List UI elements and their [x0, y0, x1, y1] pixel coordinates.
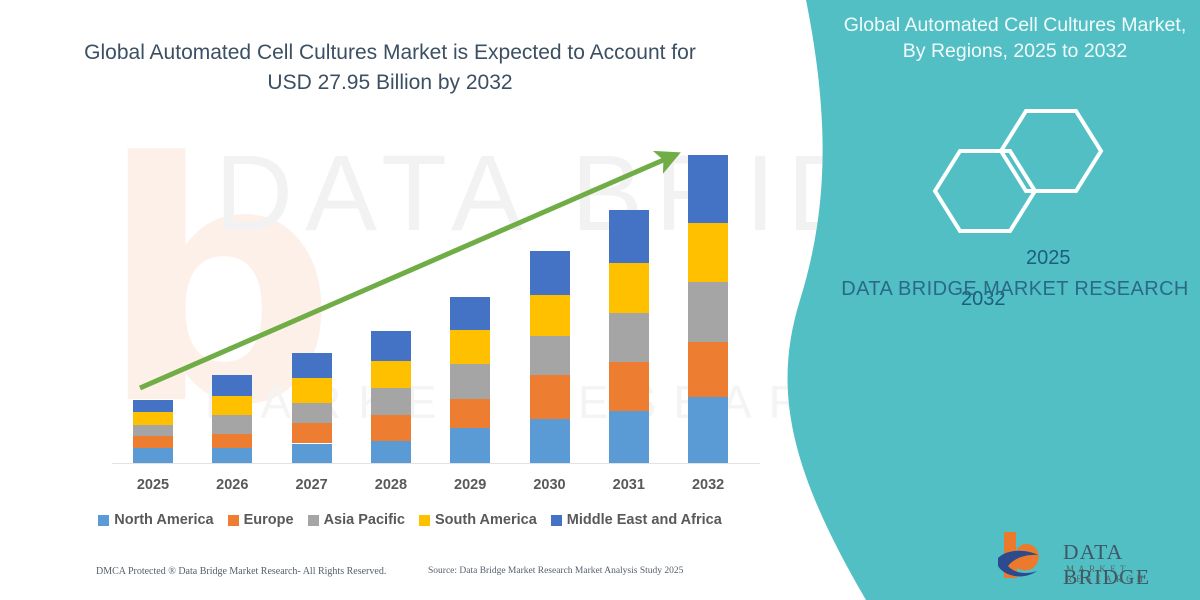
footer-source: Source: Data Bridge Market Research Mark… — [428, 566, 683, 576]
hexagon-badges: 2025 2032 — [830, 105, 1200, 240]
panel-title: Global Automated Cell Cultures Market, B… — [835, 12, 1195, 65]
legend-label: North America — [114, 512, 213, 528]
legend-item[interactable]: North America — [98, 512, 213, 528]
bar-segment — [371, 388, 411, 415]
bar-segment — [530, 336, 570, 375]
bar-segment — [212, 434, 252, 449]
bar-segment — [450, 428, 490, 463]
legend-swatch-icon — [228, 515, 239, 526]
bar-segment — [609, 313, 649, 362]
bar-segment — [530, 375, 570, 419]
bar-segment — [133, 400, 173, 413]
hexagon-2025-label: 2025 — [1026, 247, 1071, 270]
bar-segment — [530, 251, 570, 296]
x-axis-label: 2027 — [275, 477, 349, 493]
bar-segment — [530, 295, 570, 336]
x-axis-label: 2032 — [671, 477, 745, 493]
bar-segment — [371, 415, 411, 440]
legend-swatch-icon — [308, 515, 319, 526]
bar-segment — [292, 444, 332, 463]
bar-segment — [688, 397, 728, 463]
x-axis-label: 2026 — [195, 477, 269, 493]
bar-segment — [688, 155, 728, 223]
bar-segment — [609, 362, 649, 412]
data-bridge-logo: DATA BRIDGE MARKET RESEARCH — [990, 528, 1198, 590]
legend-item[interactable]: South America — [419, 512, 537, 528]
bar-segment — [292, 423, 332, 443]
x-axis-label: 2030 — [513, 477, 587, 493]
logo-sub-text: MARKET RESEARCH — [1066, 564, 1198, 584]
bar-segment — [292, 403, 332, 423]
bar-segment — [292, 353, 332, 378]
bar-segment — [371, 331, 411, 360]
bar-segment — [609, 263, 649, 313]
bar-segment — [609, 210, 649, 264]
x-axis-label: 2029 — [433, 477, 507, 493]
bar-segment — [688, 223, 728, 281]
bar-segment — [450, 364, 490, 399]
bar-segment — [292, 378, 332, 402]
legend-label: Asia Pacific — [324, 512, 405, 528]
bar-segment — [371, 441, 411, 463]
legend-swatch-icon — [98, 515, 109, 526]
chart-area: Global Automated Cell Cultures Market is… — [0, 0, 820, 600]
x-axis-label: 2025 — [116, 477, 190, 493]
bar-segment — [133, 425, 173, 436]
x-axis-line — [112, 463, 760, 464]
bar-segment — [688, 282, 728, 342]
brand-name-text: DATA BRIDGE MARKET RESEARCH — [835, 275, 1195, 304]
logo-mark-icon — [990, 528, 1060, 586]
footer-copyright: DMCA Protected ® Data Bridge Market Rese… — [96, 566, 386, 577]
stacked-bar-plot: 20252026202720282029203020312032 — [0, 0, 820, 600]
x-axis-label: 2031 — [592, 477, 666, 493]
legend-item[interactable]: Asia Pacific — [308, 512, 405, 528]
legend-label: South America — [435, 512, 537, 528]
legend-label: Europe — [244, 512, 294, 528]
chart-legend: North AmericaEuropeAsia PacificSouth Ame… — [0, 512, 820, 528]
legend-swatch-icon — [551, 515, 562, 526]
legend-item[interactable]: Middle East and Africa — [551, 512, 722, 528]
right-panel: Global Automated Cell Cultures Market, B… — [830, 0, 1200, 600]
legend-label: Middle East and Africa — [567, 512, 722, 528]
infographic-root: b DATA BRIDGE MARKET RESEARCH Global Aut… — [0, 0, 1200, 600]
bar-segment — [450, 297, 490, 330]
bar-segment — [688, 342, 728, 397]
bar-segment — [133, 436, 173, 449]
bar-segment — [450, 330, 490, 363]
bar-segment — [212, 415, 252, 434]
bar-segment — [212, 375, 252, 395]
legend-swatch-icon — [419, 515, 430, 526]
bar-segment — [530, 419, 570, 463]
hexagon-2025-shape — [1001, 111, 1101, 191]
hexagon-outlines — [830, 105, 1200, 240]
legend-item[interactable]: Europe — [228, 512, 294, 528]
x-axis-label: 2028 — [354, 477, 428, 493]
hexagon-2032-shape — [935, 151, 1035, 231]
bar-segment — [212, 396, 252, 415]
bar-segment — [450, 399, 490, 428]
bar-segment — [371, 361, 411, 388]
bar-segment — [133, 448, 173, 463]
bar-segment — [609, 411, 649, 463]
bar-segment — [133, 412, 173, 425]
bar-segment — [212, 448, 252, 463]
